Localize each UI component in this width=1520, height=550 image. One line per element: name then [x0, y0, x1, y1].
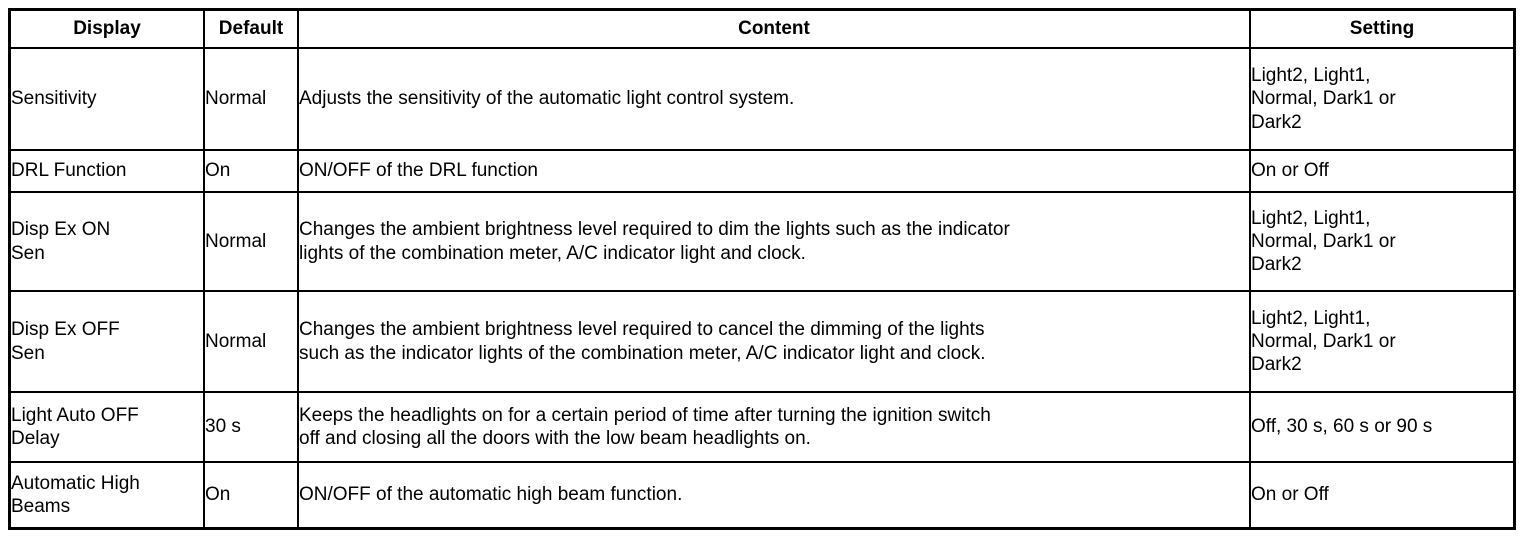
cell-content-line: Changes the ambient brightness level req…	[299, 218, 1249, 241]
cell-setting-line: Light2, Light1,	[1251, 207, 1513, 230]
cell-setting: On or Off	[1250, 462, 1515, 529]
cell-display-line: Beams	[11, 495, 203, 518]
column-header-setting: Setting	[1250, 10, 1515, 49]
cell-content: Keeps the headlights on for a certain pe…	[298, 392, 1250, 462]
cell-setting: On or Off	[1250, 150, 1515, 192]
cell-content-line: off and closing all the doors with the l…	[299, 427, 1249, 450]
cell-setting: Light2, Light1, Normal, Dark1 or Dark2	[1250, 192, 1515, 291]
cell-content: ON/OFF of the automatic high beam functi…	[298, 462, 1250, 529]
cell-setting-line: On or Off	[1251, 159, 1513, 182]
cell-content: ON/OFF of the DRL function	[298, 150, 1250, 192]
cell-default: 30 s	[204, 392, 298, 462]
cell-display-line: Delay	[11, 427, 203, 450]
cell-setting: Light2, Light1, Normal, Dark1 or Dark2	[1250, 48, 1515, 150]
cell-display-line: Disp Ex ON	[11, 218, 203, 241]
cell-setting-line: Light2, Light1,	[1251, 307, 1513, 330]
cell-default: Normal	[204, 291, 298, 392]
cell-setting-line: Normal, Dark1 or	[1251, 230, 1513, 253]
table-header-row: Display Default Content Setting	[10, 10, 1515, 49]
cell-display-line: Light Auto OFF	[11, 404, 203, 427]
cell-default: Normal	[204, 192, 298, 291]
cell-display: Sensitivity	[10, 48, 205, 150]
table-header: Display Default Content Setting	[10, 10, 1515, 49]
cell-setting-line: Dark2	[1251, 253, 1513, 276]
cell-default: On	[204, 150, 298, 192]
cell-display-line: DRL Function	[11, 159, 203, 182]
column-header-default: Default	[204, 10, 298, 49]
cell-setting-line: Dark2	[1251, 111, 1513, 134]
cell-content-line: such as the indicator lights of the comb…	[299, 342, 1249, 365]
cell-display: Disp Ex ON Sen	[10, 192, 205, 291]
cell-setting-line: Dark2	[1251, 353, 1513, 376]
cell-setting-line: Normal, Dark1 or	[1251, 87, 1513, 110]
headlight-settings-table: Display Default Content Setting Sensitiv…	[8, 8, 1516, 530]
cell-setting-line: Light2, Light1,	[1251, 64, 1513, 87]
cell-display: Light Auto OFF Delay	[10, 392, 205, 462]
cell-default: Normal	[204, 48, 298, 150]
table-row: Sensitivity Normal Adjusts the sensitivi…	[10, 48, 1515, 150]
cell-content-line: lights of the combination meter, A/C ind…	[299, 242, 1249, 265]
cell-content: Changes the ambient brightness level req…	[298, 291, 1250, 392]
cell-setting: Light2, Light1, Normal, Dark1 or Dark2	[1250, 291, 1515, 392]
column-header-content: Content	[298, 10, 1250, 49]
table-body: Sensitivity Normal Adjusts the sensitivi…	[10, 48, 1515, 529]
cell-content-line: Adjusts the sensitivity of the automatic…	[299, 87, 1249, 110]
column-header-display: Display	[10, 10, 205, 49]
cell-content-line: ON/OFF of the DRL function	[299, 159, 1249, 182]
cell-display: Disp Ex OFF Sen	[10, 291, 205, 392]
cell-content-line: ON/OFF of the automatic high beam functi…	[299, 483, 1249, 506]
cell-display-line: Disp Ex OFF	[11, 318, 203, 341]
cell-setting-line: Off, 30 s, 60 s or 90 s	[1251, 415, 1513, 438]
cell-display-line: Sensitivity	[11, 87, 203, 110]
cell-setting: Off, 30 s, 60 s or 90 s	[1250, 392, 1515, 462]
cell-display: Automatic High Beams	[10, 462, 205, 529]
settings-table-container: Display Default Content Setting Sensitiv…	[8, 8, 1508, 530]
cell-setting-line: Normal, Dark1 or	[1251, 330, 1513, 353]
cell-display-line: Sen	[11, 242, 203, 265]
cell-setting-line: On or Off	[1251, 483, 1513, 506]
table-row: DRL Function On ON/OFF of the DRL functi…	[10, 150, 1515, 192]
cell-display-line: Sen	[11, 342, 203, 365]
cell-display: DRL Function	[10, 150, 205, 192]
cell-content: Changes the ambient brightness level req…	[298, 192, 1250, 291]
cell-content-line: Changes the ambient brightness level req…	[299, 318, 1249, 341]
table-row: Disp Ex OFF Sen Normal Changes the ambie…	[10, 291, 1515, 392]
table-row: Light Auto OFF Delay 30 s Keeps the head…	[10, 392, 1515, 462]
cell-content-line: Keeps the headlights on for a certain pe…	[299, 404, 1249, 427]
cell-content: Adjusts the sensitivity of the automatic…	[298, 48, 1250, 150]
cell-default: On	[204, 462, 298, 529]
table-row: Disp Ex ON Sen Normal Changes the ambien…	[10, 192, 1515, 291]
table-row: Automatic High Beams On ON/OFF of the au…	[10, 462, 1515, 529]
cell-display-line: Automatic High	[11, 472, 203, 495]
